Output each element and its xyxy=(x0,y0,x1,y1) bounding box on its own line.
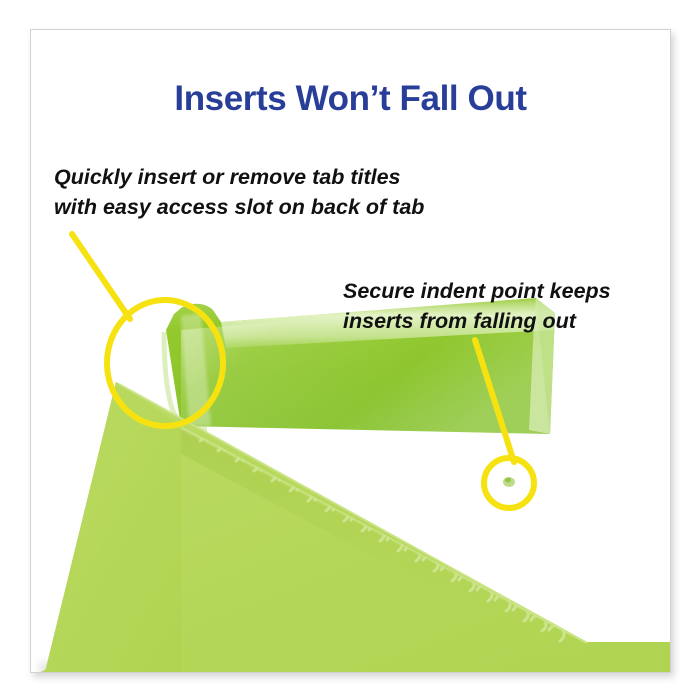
callout-caption-access-slot-line1: Quickly insert or remove tab titles xyxy=(54,162,424,192)
callout-caption-indent-point: Secure indent point keeps inserts from f… xyxy=(343,276,611,336)
product-photo xyxy=(31,30,670,672)
product-photo-illustration xyxy=(31,30,670,672)
divider-sheet-left xyxy=(45,382,181,672)
page-title: Inserts Won’t Fall Out xyxy=(31,79,670,119)
callout-caption-access-slot: Quickly insert or remove tab titles with… xyxy=(54,162,424,222)
indent-point-dimple xyxy=(503,477,515,487)
product-feature-screenshot: Inserts Won’t Fall Out Quickly insert or… xyxy=(0,0,700,700)
callout-caption-indent-point-line1: Secure indent point keeps xyxy=(343,276,611,306)
callout-caption-indent-point-line2: inserts from falling out xyxy=(343,306,611,336)
product-image-card: Inserts Won’t Fall Out Quickly insert or… xyxy=(30,29,671,673)
callout-caption-access-slot-line2: with easy access slot on back of tab xyxy=(54,192,424,222)
